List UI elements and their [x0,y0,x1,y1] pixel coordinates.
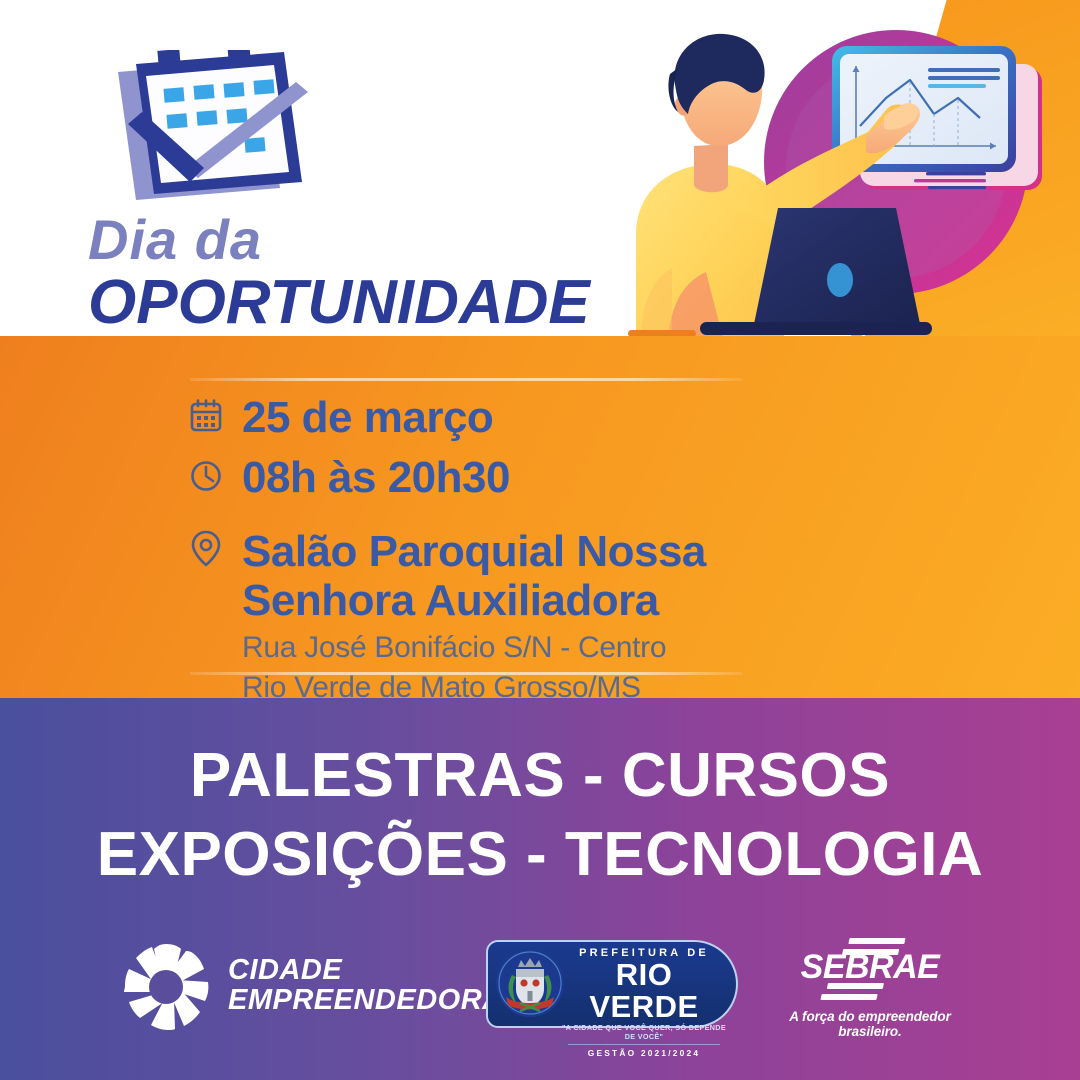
address-line-1: Rua José Bonifácio S/N - Centro [242,630,706,667]
event-info-list: 25 de março 08h às 20h30 [190,394,990,707]
starburst-icon [118,938,214,1034]
divider-top [190,378,742,381]
sponsor-row: CIDADE EMPREENDEDORA [0,930,1080,1050]
location-pin-icon [190,527,228,571]
calendar-icon [190,394,228,438]
coat-of-arms-icon [494,947,566,1019]
clock-icon [190,454,228,498]
headline: PALESTRAS - CURSOS EXPOSIÇÕES - TECNOLOG… [0,736,1080,895]
sponsor-prefeitura-rio-verde: PREFEITURA DE RIO VERDE "A CIDADE QUE VO… [486,940,738,1028]
headline-line-2: EXPOSIÇÕES - TECNOLOGIA [0,815,1080,894]
headline-band: PALESTRAS - CURSOS EXPOSIÇÕES - TECNOLOG… [0,698,1080,1080]
event-time-text: 08h às 20h30 [242,454,510,502]
sebrae-tagline: A força do empreendedor brasileiro. [772,1009,968,1039]
logo-line-oportunidade: OPORTUNIDADE [88,270,648,335]
sponsor-cidade-empreendedora: CIDADE EMPREENDEDORA [118,938,504,1034]
event-date-text: 25 de março [242,394,493,442]
cidade-line-2: EMPREENDEDORA [228,986,504,1016]
logo-line-dia-da: Dia da [88,212,648,268]
calendar-check-icon [112,50,322,220]
svg-text:SEBRAE: SEBRAE [801,948,942,986]
man-presenting-chart-illustration [628,0,1080,342]
sponsor-sebrae: SEBRAE A força do empreendedor brasileir… [772,936,968,1039]
top-white-band: Dia da OPORTUNIDADE [0,0,1080,336]
cidade-line-1: CIDADE [228,956,504,986]
logo-wordmark: Dia da OPORTUNIDADE [88,212,648,335]
prefeitura-wordmark: PREFEITURA DE RIO VERDE "A CIDADE QUE VO… [562,947,726,1058]
event-details-band: 25 de março 08h às 20h30 [0,336,1080,698]
venue-line-1: Salão Paroquial Nossa [242,527,706,576]
event-date-row: 25 de março [190,394,990,442]
event-venue-block: Salão Paroquial Nossa Senhora Auxiliador… [242,527,706,707]
prefeitura-line-2: RIO VERDE [562,959,726,1022]
prefeitura-gestao: GESTÃO 2021/2024 [562,1048,726,1058]
event-time-row: 08h às 20h30 [190,454,990,502]
sebrae-bars-icon: SEBRAE [772,936,968,1006]
headline-line-1: PALESTRAS - CURSOS [0,736,1080,815]
event-venue-row: Salão Paroquial Nossa Senhora Auxiliador… [190,527,990,707]
prefeitura-divider [568,1044,720,1045]
prefeitura-tagline: "A CIDADE QUE VOCÊ QUER, SÓ DEPENDE DE V… [562,1024,726,1041]
poster-root: Dia da OPORTUNIDADE [0,0,1080,1080]
cidade-wordmark: CIDADE EMPREENDEDORA [228,956,504,1015]
venue-line-2: Senhora Auxiliadora [242,576,706,625]
divider-bottom [190,672,742,675]
